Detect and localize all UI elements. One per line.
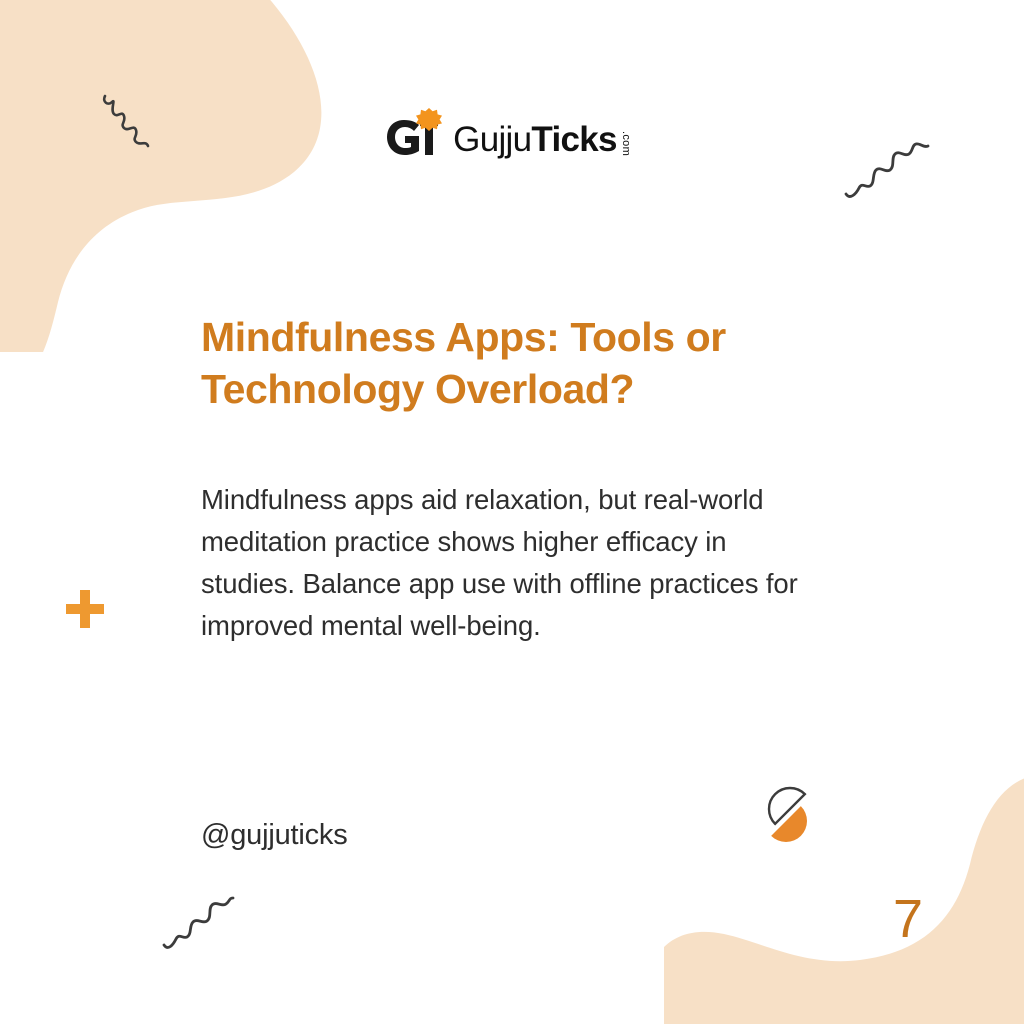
post-content: Mindfulness Apps: Tools or Technology Ov… [201,312,821,415]
plus-icon [64,588,106,630]
squiggle-icon [160,895,238,953]
peach-blob-icon [0,0,362,352]
body-text: Mindfulness apps aid relaxation, but rea… [201,479,813,647]
page-title: Mindfulness Apps: Tools or Technology Ov… [201,312,801,415]
gt-monogram-icon [382,108,444,160]
half-circle-outline-icon [760,783,805,824]
starburst-icon [416,108,442,131]
brand-logo[interactable]: Gujju Ticks .com [0,108,1024,160]
peach-blob-icon [664,754,1024,1024]
half-circle-pair-decoration [757,783,821,847]
half-circle-filled-icon [771,806,816,847]
logo-word-ticks: Ticks [531,122,616,157]
logo-tld: .com [620,131,631,156]
social-handle[interactable]: @gujjuticks [201,819,348,852]
logo-word-gujju: Gujju [453,122,531,157]
post-canvas: Gujju Ticks .com Mindfulness Apps: Tools… [0,0,1024,1024]
page-number: 7 [893,892,923,946]
